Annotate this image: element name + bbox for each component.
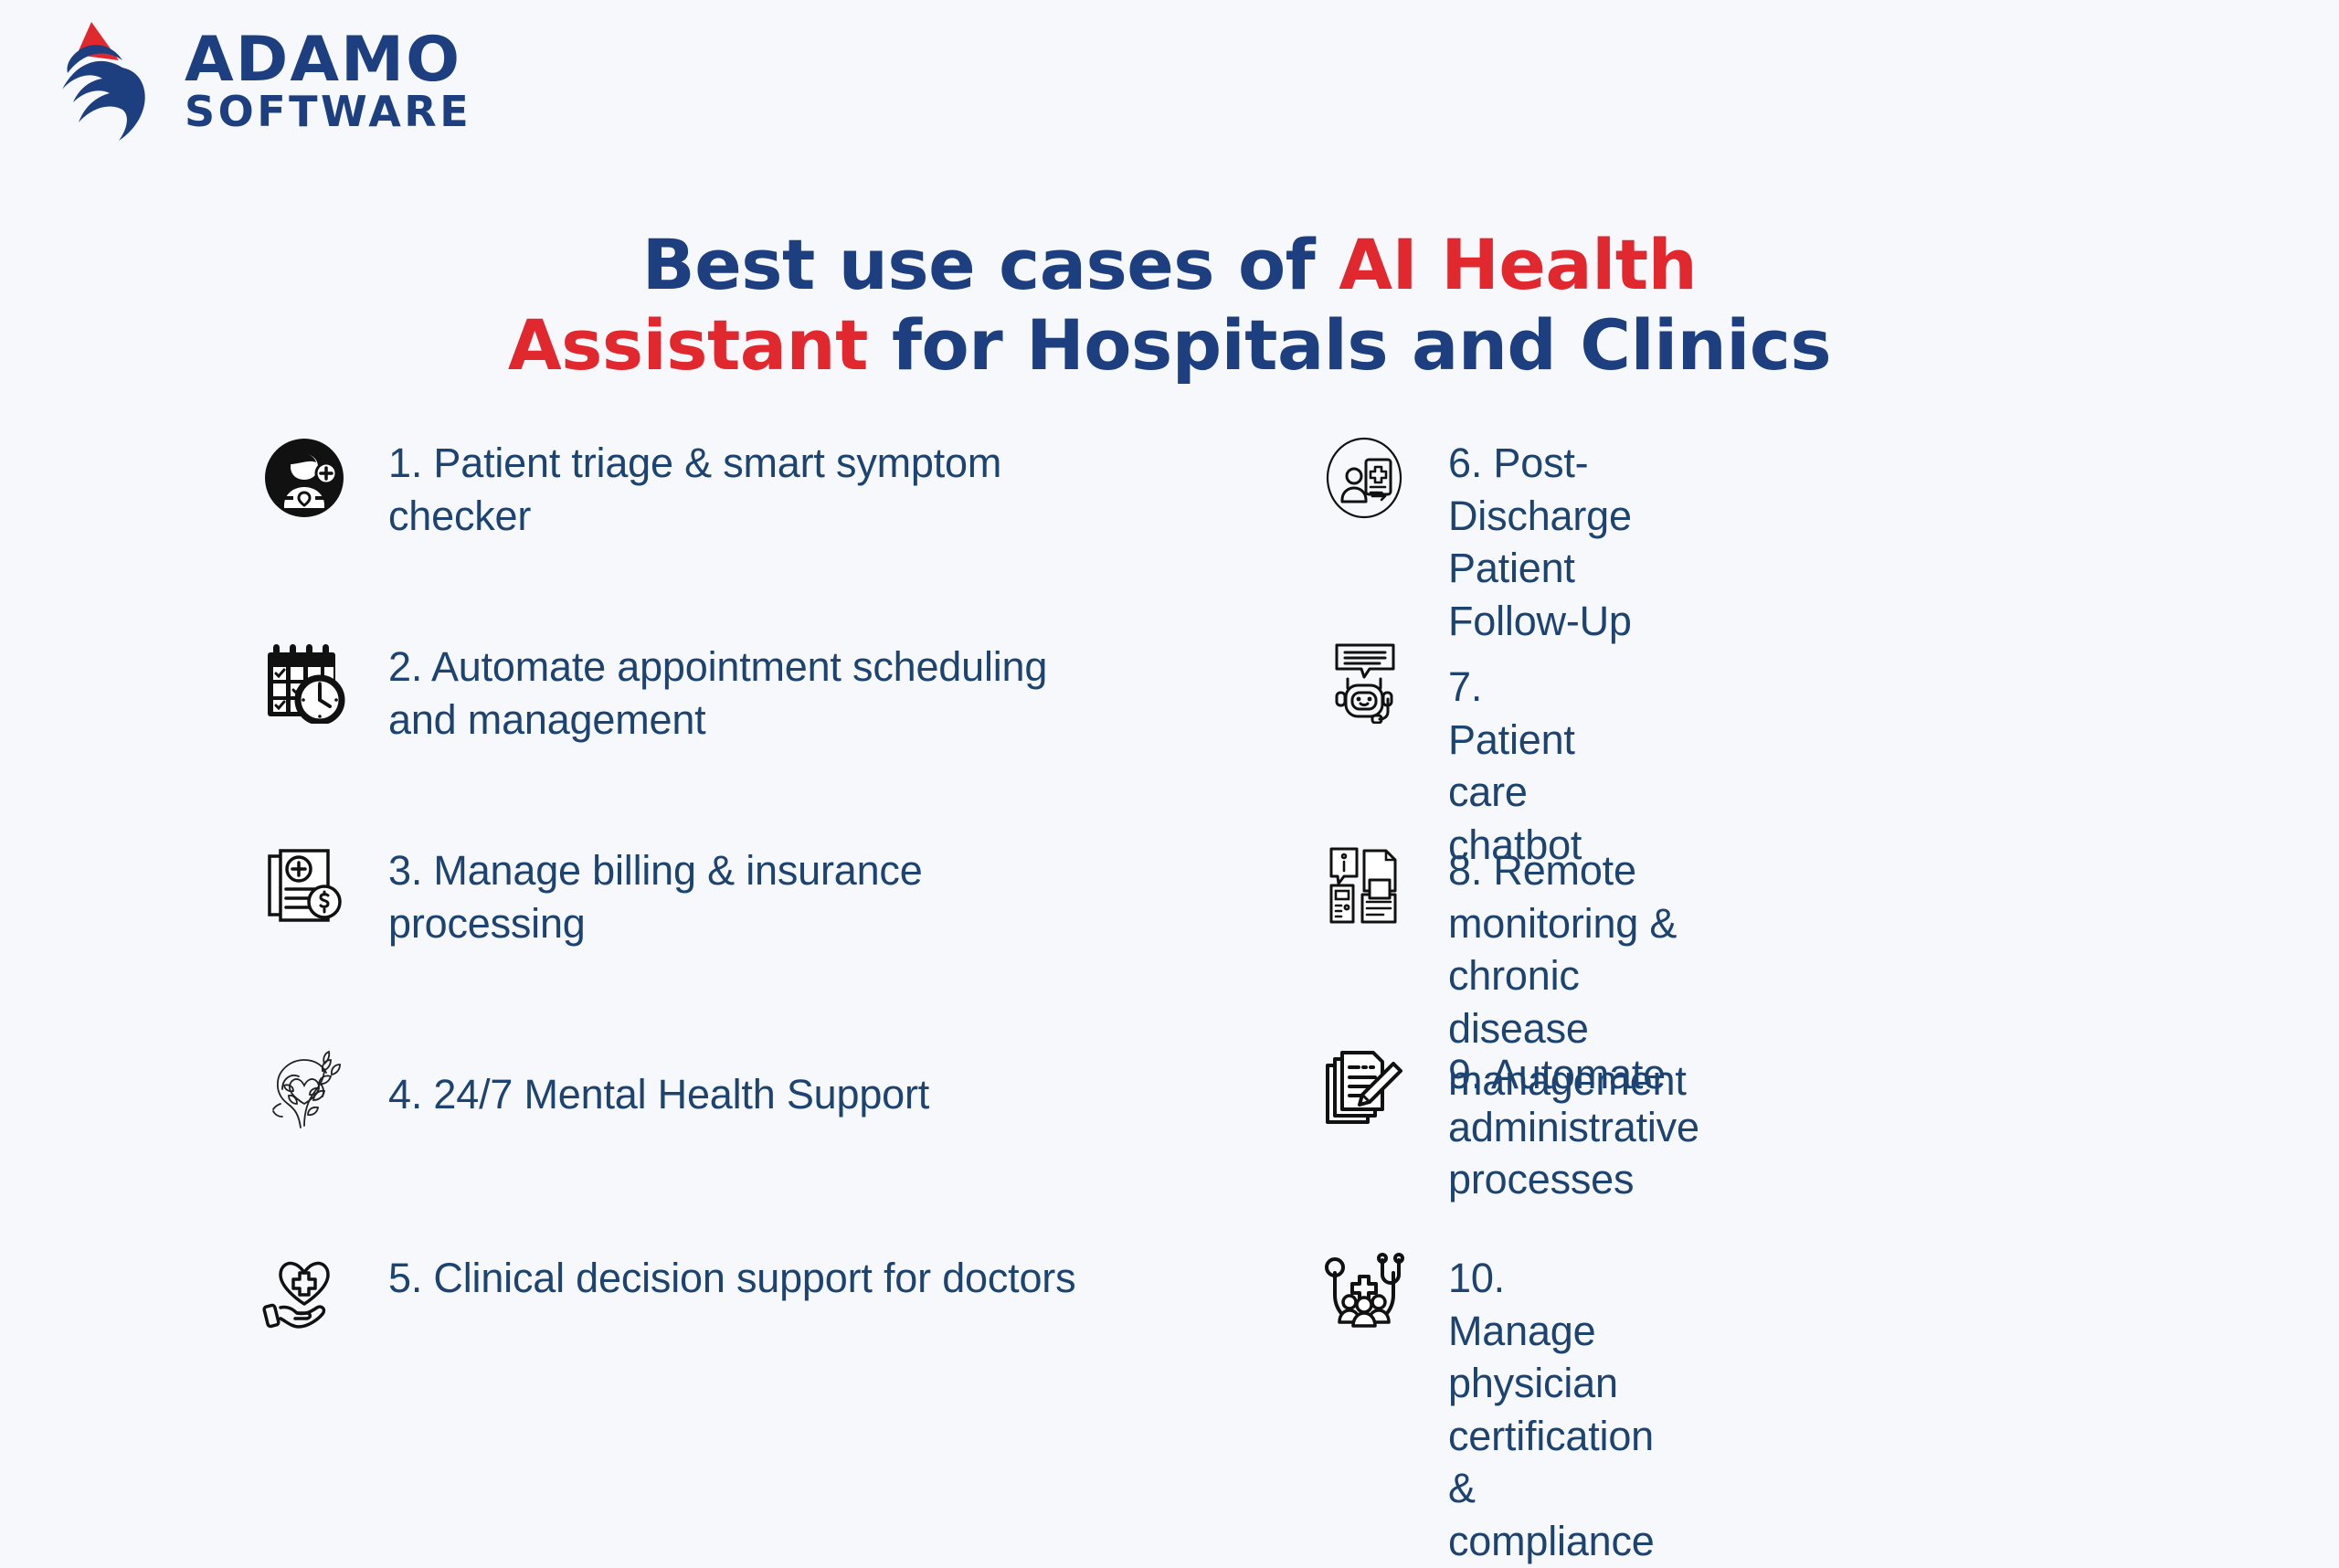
list-item-label: 6. Post-Discharge Patient Follow-Up	[1448, 429, 1632, 647]
page-title: Best use cases of AI HealthAssistant for…	[0, 225, 2339, 386]
title-part-3: Assistant	[508, 304, 868, 386]
stethoscope-team-cross-icon	[1320, 1245, 1407, 1340]
use-case-columns: 1. Patient triage & smart symptom checke…	[0, 429, 2339, 1448]
brand-logo: ADAMO SOFTWARE	[35, 13, 471, 150]
adamo-swoosh-icon	[35, 13, 163, 150]
title-part-1: Best use cases of	[642, 224, 1339, 305]
right-column: 6. Post-Discharge Patient Follow-Up	[0, 429, 1375, 1448]
brand-name-line-1: ADAMO	[185, 32, 477, 90]
title-part-2: AI Health	[1339, 224, 1697, 305]
documents-pencil-icon	[1320, 1041, 1407, 1137]
patient-record-circle-icon	[1320, 429, 1407, 525]
brand-name-line-2: SOFTWARE	[185, 92, 471, 131]
list-item-label: 10. Manage physician certification & com…	[1448, 1245, 1655, 1568]
title-part-4: for Hospitals and Clinics	[868, 304, 1831, 386]
list-item-label: 9. Automate administrative processes	[1448, 1041, 1699, 1206]
remote-monitor-documents-icon	[1320, 837, 1407, 933]
list-item-label: 7. Patient care chatbot	[1448, 633, 1582, 871]
chatbot-robot-icon	[1320, 633, 1407, 729]
